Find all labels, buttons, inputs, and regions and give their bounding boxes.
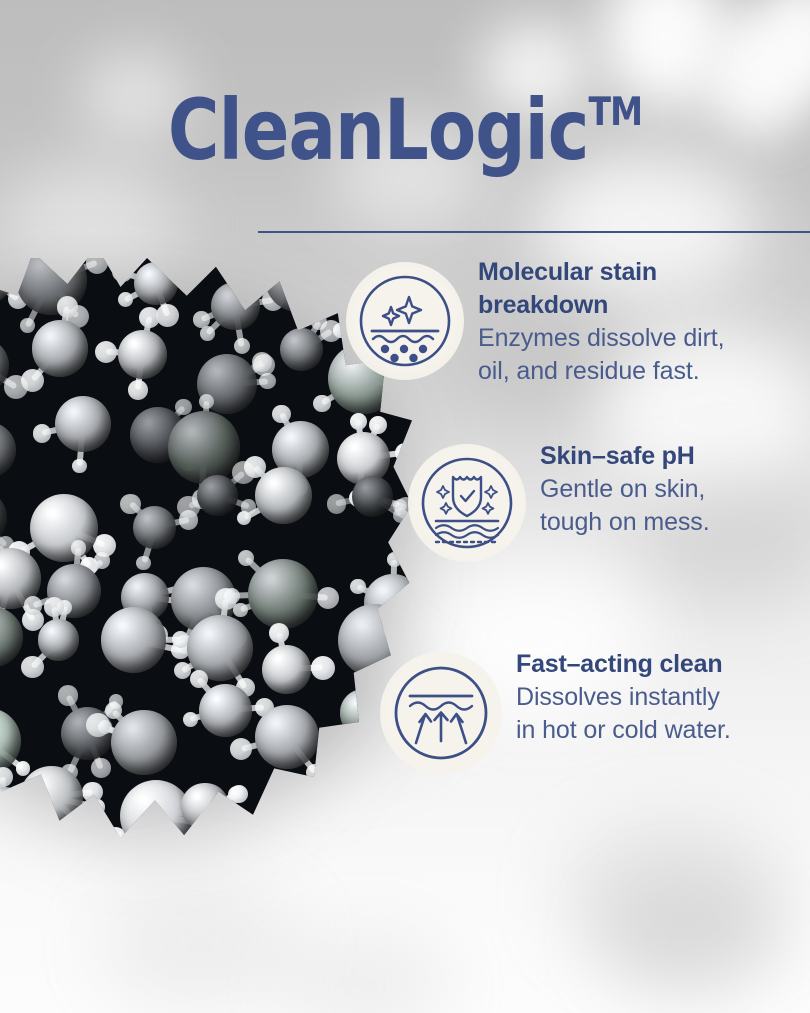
bg-blob (600, 880, 780, 1000)
feature-title: Fast–acting clean (516, 648, 731, 681)
feature-item-fast-acting-clean: Fast–acting clean Dissolves instantly in… (380, 648, 731, 774)
feature-title-line: Fast–acting clean (516, 648, 731, 681)
brand-name: CleanLogic (168, 81, 589, 179)
feature-title: Molecular stain breakdown (478, 256, 725, 322)
feature-text: Molecular stain breakdown Enzymes dissol… (478, 256, 725, 388)
feature-description-line: in hot or cold water. (516, 714, 731, 747)
feature-description-line: oil, and residue fast. (478, 355, 725, 388)
feature-title-line: breakdown (478, 289, 725, 322)
title-divider (258, 231, 810, 233)
poster-canvas: CleanLogicTM (0, 0, 810, 1013)
feature-description-line: Enzymes dissolve dirt, (478, 322, 725, 355)
sparkle-surface-particles-icon (346, 262, 464, 380)
bg-blob (560, 820, 790, 970)
feature-text: Skin–safe pH Gentle on skin, tough on me… (540, 440, 710, 539)
feature-description: Enzymes dissolve dirt, oil, and residue … (478, 322, 725, 388)
trademark-symbol: TM (589, 89, 643, 135)
feature-description-line: Gentle on skin, (540, 473, 710, 506)
feature-description: Dissolves instantly in hot or cold water… (516, 681, 731, 747)
bg-blob (760, 0, 810, 90)
feature-item-molecular-stain-breakdown: Molecular stain breakdown Enzymes dissol… (346, 256, 725, 388)
feature-description-line: tough on mess. (540, 506, 710, 539)
feature-title-line: Molecular stain (478, 256, 725, 289)
page-title: CleanLogicTM (28, 88, 781, 172)
shield-check-skin-layers-icon (408, 444, 526, 562)
feature-title-line: Skin–safe pH (540, 440, 710, 473)
feature-description: Gentle on skin, tough on mess. (540, 473, 710, 539)
feature-item-skin-safe-ph: Skin–safe pH Gentle on skin, tough on me… (408, 440, 710, 562)
bg-blob (280, 930, 450, 1013)
bg-blob (100, 880, 300, 1010)
feature-text: Fast–acting clean Dissolves instantly in… (516, 648, 731, 747)
upward-arrows-water-icon (380, 652, 502, 774)
feature-title: Skin–safe pH (540, 440, 710, 473)
feature-description-line: Dissolves instantly (516, 681, 731, 714)
